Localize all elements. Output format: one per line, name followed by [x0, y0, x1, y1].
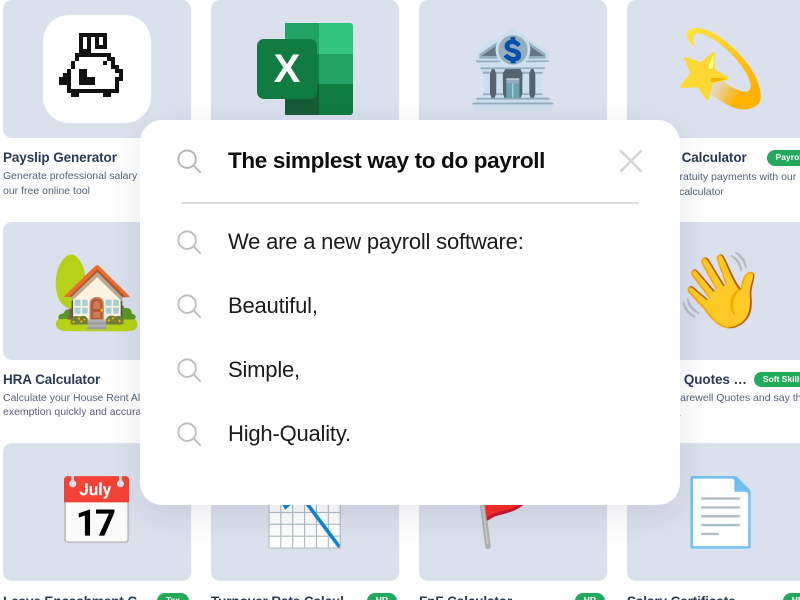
card-thumbnail[interactable]: X [211, 0, 399, 138]
search-query-text[interactable]: The simplest way to do payroll [228, 148, 592, 174]
page-root: { "theme": { "card_background": "#dbe0ed… [0, 0, 800, 600]
search-modal: The simplest way to do payroll We are a … [140, 120, 680, 505]
dizzy-star-icon: 💫 [675, 32, 767, 106]
search-suggestion-item[interactable]: Simple, [174, 338, 646, 402]
search-modal-header: The simplest way to do payroll [174, 120, 646, 202]
search-icon [174, 227, 204, 257]
waving-hand-icon: 👋 [675, 254, 767, 328]
search-suggestion-item[interactable]: High-Quality. [174, 402, 646, 466]
card-thumbnail[interactable]: 🏦 [419, 0, 607, 138]
card-title: Salary Certificate [627, 594, 777, 600]
white-icon-tile [43, 15, 151, 123]
search-suggestion-list: We are a new payroll software: Beautiful… [174, 204, 646, 466]
page-facing-up-icon: 📄 [680, 479, 762, 545]
card-thumbnail[interactable] [3, 0, 191, 138]
card-title: FnF Calculator [419, 594, 569, 600]
card-title-row: FnF Calculator HR [419, 593, 607, 600]
search-icon [174, 291, 204, 321]
card-title-row: Turnover Rate Calculator HR [211, 593, 399, 600]
calendar-icon: 📅 [56, 479, 138, 545]
search-suggestion-item[interactable]: Beautiful, [174, 274, 646, 338]
card-thumbnail[interactable]: 💫 [627, 0, 800, 138]
card-badge: HR [783, 593, 800, 600]
card-title-row: Salary Certificate HR [627, 593, 800, 600]
house-with-garden-icon: 🏡 [51, 254, 143, 328]
search-icon [174, 419, 204, 449]
card-title: Turnover Rate Calculator [211, 594, 361, 600]
card-badge: Tax [157, 593, 189, 600]
card-title: Leave Encashment Cal… [3, 594, 151, 600]
card-badge: HR [575, 593, 605, 600]
bank-icon: 🏦 [467, 32, 559, 106]
microsoft-excel-icon: X [257, 23, 353, 115]
suggestion-label: High-Quality. [228, 421, 351, 447]
pixel-rabbit-icon [59, 33, 135, 105]
suggestion-label: Simple, [228, 357, 300, 383]
card-badge: HR [367, 593, 397, 600]
card-badge: Soft Skills [754, 372, 800, 388]
search-icon [174, 146, 204, 176]
card-badge: Payroll [767, 150, 800, 166]
search-icon [174, 355, 204, 385]
suggestion-label: Beautiful, [228, 293, 318, 319]
close-icon[interactable] [616, 146, 646, 176]
search-suggestion-item[interactable]: We are a new payroll software: [174, 210, 646, 274]
suggestion-label: We are a new payroll software: [228, 229, 524, 255]
card-title-row: Leave Encashment Cal… Tax [3, 593, 191, 600]
